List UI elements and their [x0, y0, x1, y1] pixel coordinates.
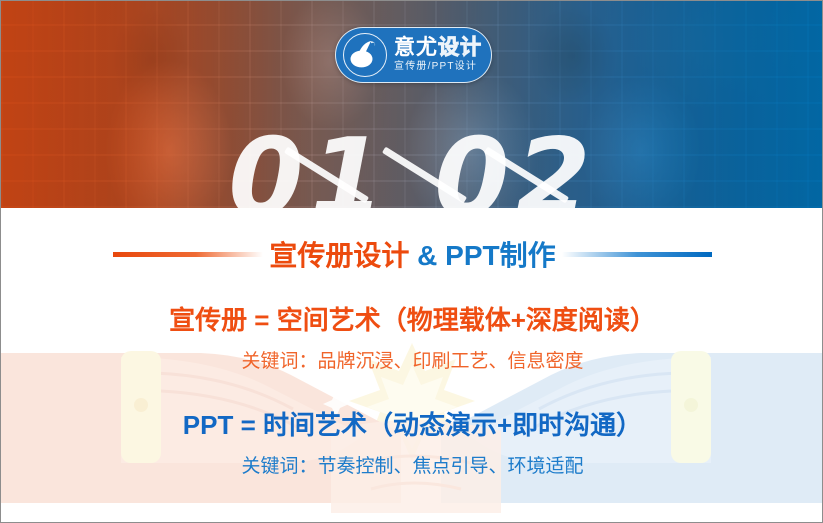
section-title: 宣传册设计 & PPT制作 — [1, 234, 823, 274]
slide-canvas: 01 02 意尤设计 宣传册/PPT设计 — [0, 0, 823, 523]
brush-droplet-icon — [343, 33, 387, 77]
title-text: 宣传册设计 & PPT制作 — [263, 234, 561, 274]
section-brochure: 宣传册 = 空间艺术（物理载体+深度阅读） 关键词：品牌沉浸、印刷工艺、信息密度 — [1, 300, 823, 373]
title-rule-right — [562, 252, 712, 257]
title-blue-part: PPT制作 — [445, 240, 555, 271]
brochure-headline: 宣传册 = 空间艺术（物理载体+深度阅读） — [1, 300, 823, 337]
ppt-headline: PPT = 时间艺术（动态演示+即时沟通） — [1, 405, 823, 442]
logo-outline-chars: 设计 — [438, 36, 482, 59]
header-banner: 01 02 意尤设计 宣传册/PPT设计 — [1, 1, 823, 208]
logo-solid-chars: 意尤 — [394, 36, 438, 59]
logo-subtitle: 宣传册/PPT设计 — [394, 62, 482, 72]
ppt-keywords: 关键词：节奏控制、焦点引导、环境适配 — [1, 451, 823, 478]
logo-main-text: 意尤设计 — [394, 37, 482, 58]
section-ppt: PPT = 时间艺术（动态演示+即时沟通） 关键词：节奏控制、焦点引导、环境适配 — [1, 405, 823, 478]
brand-logo[interactable]: 意尤设计 宣传册/PPT设计 — [335, 27, 492, 83]
brochure-keywords: 关键词：品牌沉浸、印刷工艺、信息密度 — [1, 346, 823, 373]
title-ampersand: & — [409, 240, 445, 271]
content-area: 宣传册设计 & PPT制作 宣传册 = 空间艺术（物理载体+深度阅读） 关键词：… — [1, 208, 823, 522]
logo-wordmark: 意尤设计 宣传册/PPT设计 — [394, 37, 482, 74]
title-rule-left — [113, 252, 263, 257]
title-orange-part: 宣传册设计 — [269, 240, 409, 271]
